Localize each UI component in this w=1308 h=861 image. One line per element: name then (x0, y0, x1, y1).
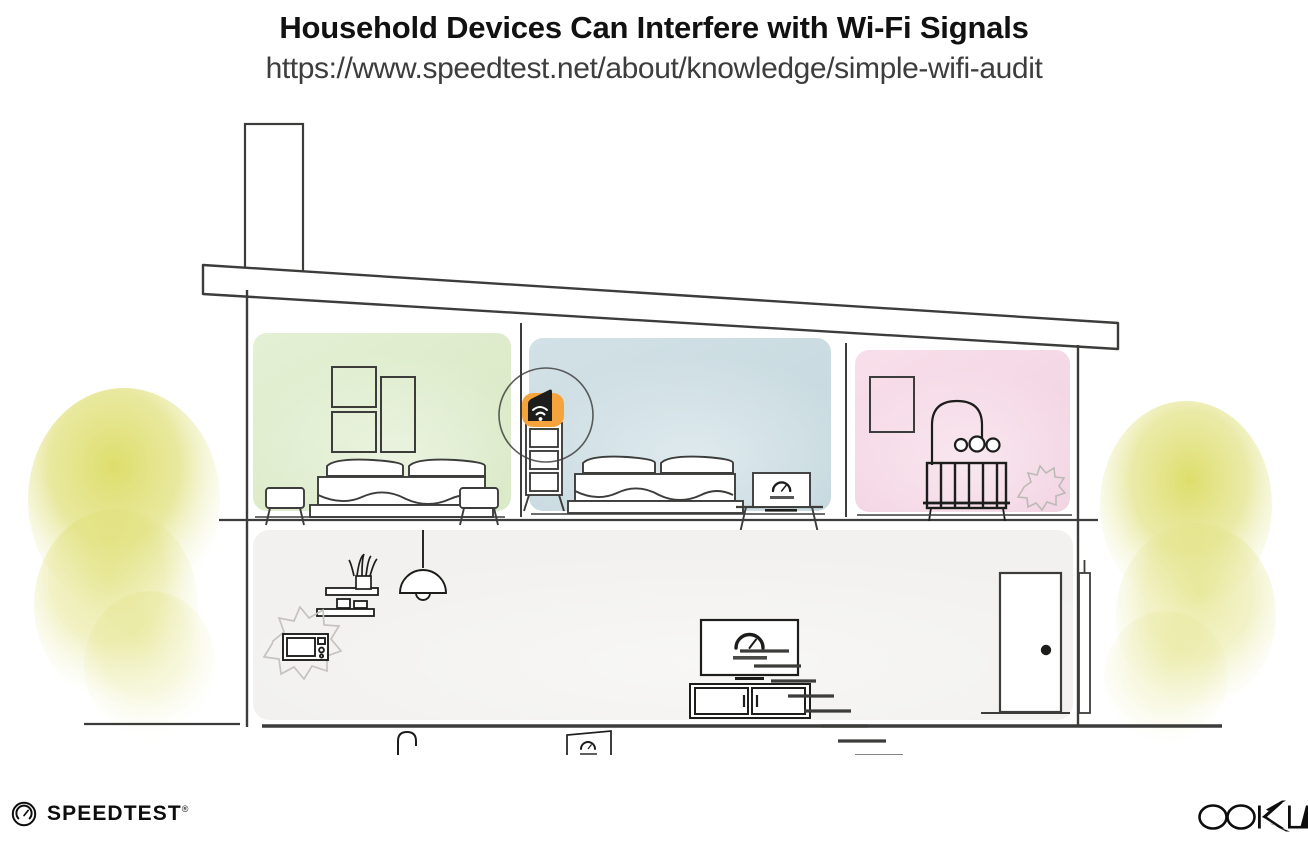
house-illustration (0, 105, 1308, 755)
source-url: https://www.speedtest.net/about/knowledg… (0, 52, 1308, 87)
wifi-router (522, 390, 564, 427)
infographic-stage: Household Devices Can Interfere with Wi-… (0, 0, 1308, 861)
sidelight-window (1079, 560, 1090, 713)
header: Household Devices Can Interfere with Wi-… (0, 0, 1308, 86)
foliage-right (1100, 401, 1276, 743)
chimney (245, 124, 303, 272)
foliage-left (28, 388, 220, 739)
speedometer-gauge-icon (10, 800, 38, 828)
registered-mark: ® (182, 804, 189, 814)
speedtest-wordmark: SPEEDTEST® (47, 802, 188, 826)
sink-faucet (398, 732, 416, 755)
tv-monitor (753, 473, 810, 512)
ookla-logo-icon (1196, 800, 1308, 834)
green-bedroom (253, 333, 511, 525)
lower-floor (253, 530, 1090, 755)
page-title: Household Devices Can Interfere with Wi-… (0, 10, 1308, 46)
footer: SPEEDTEST® (0, 786, 1308, 846)
speedtest-logo: SPEEDTEST® (10, 800, 188, 828)
blue-bedroom (499, 338, 831, 533)
laptop (556, 731, 616, 755)
ookla-logo (1196, 800, 1308, 839)
microwave (283, 634, 328, 660)
bed-blue (568, 457, 743, 513)
media-console (690, 684, 810, 718)
